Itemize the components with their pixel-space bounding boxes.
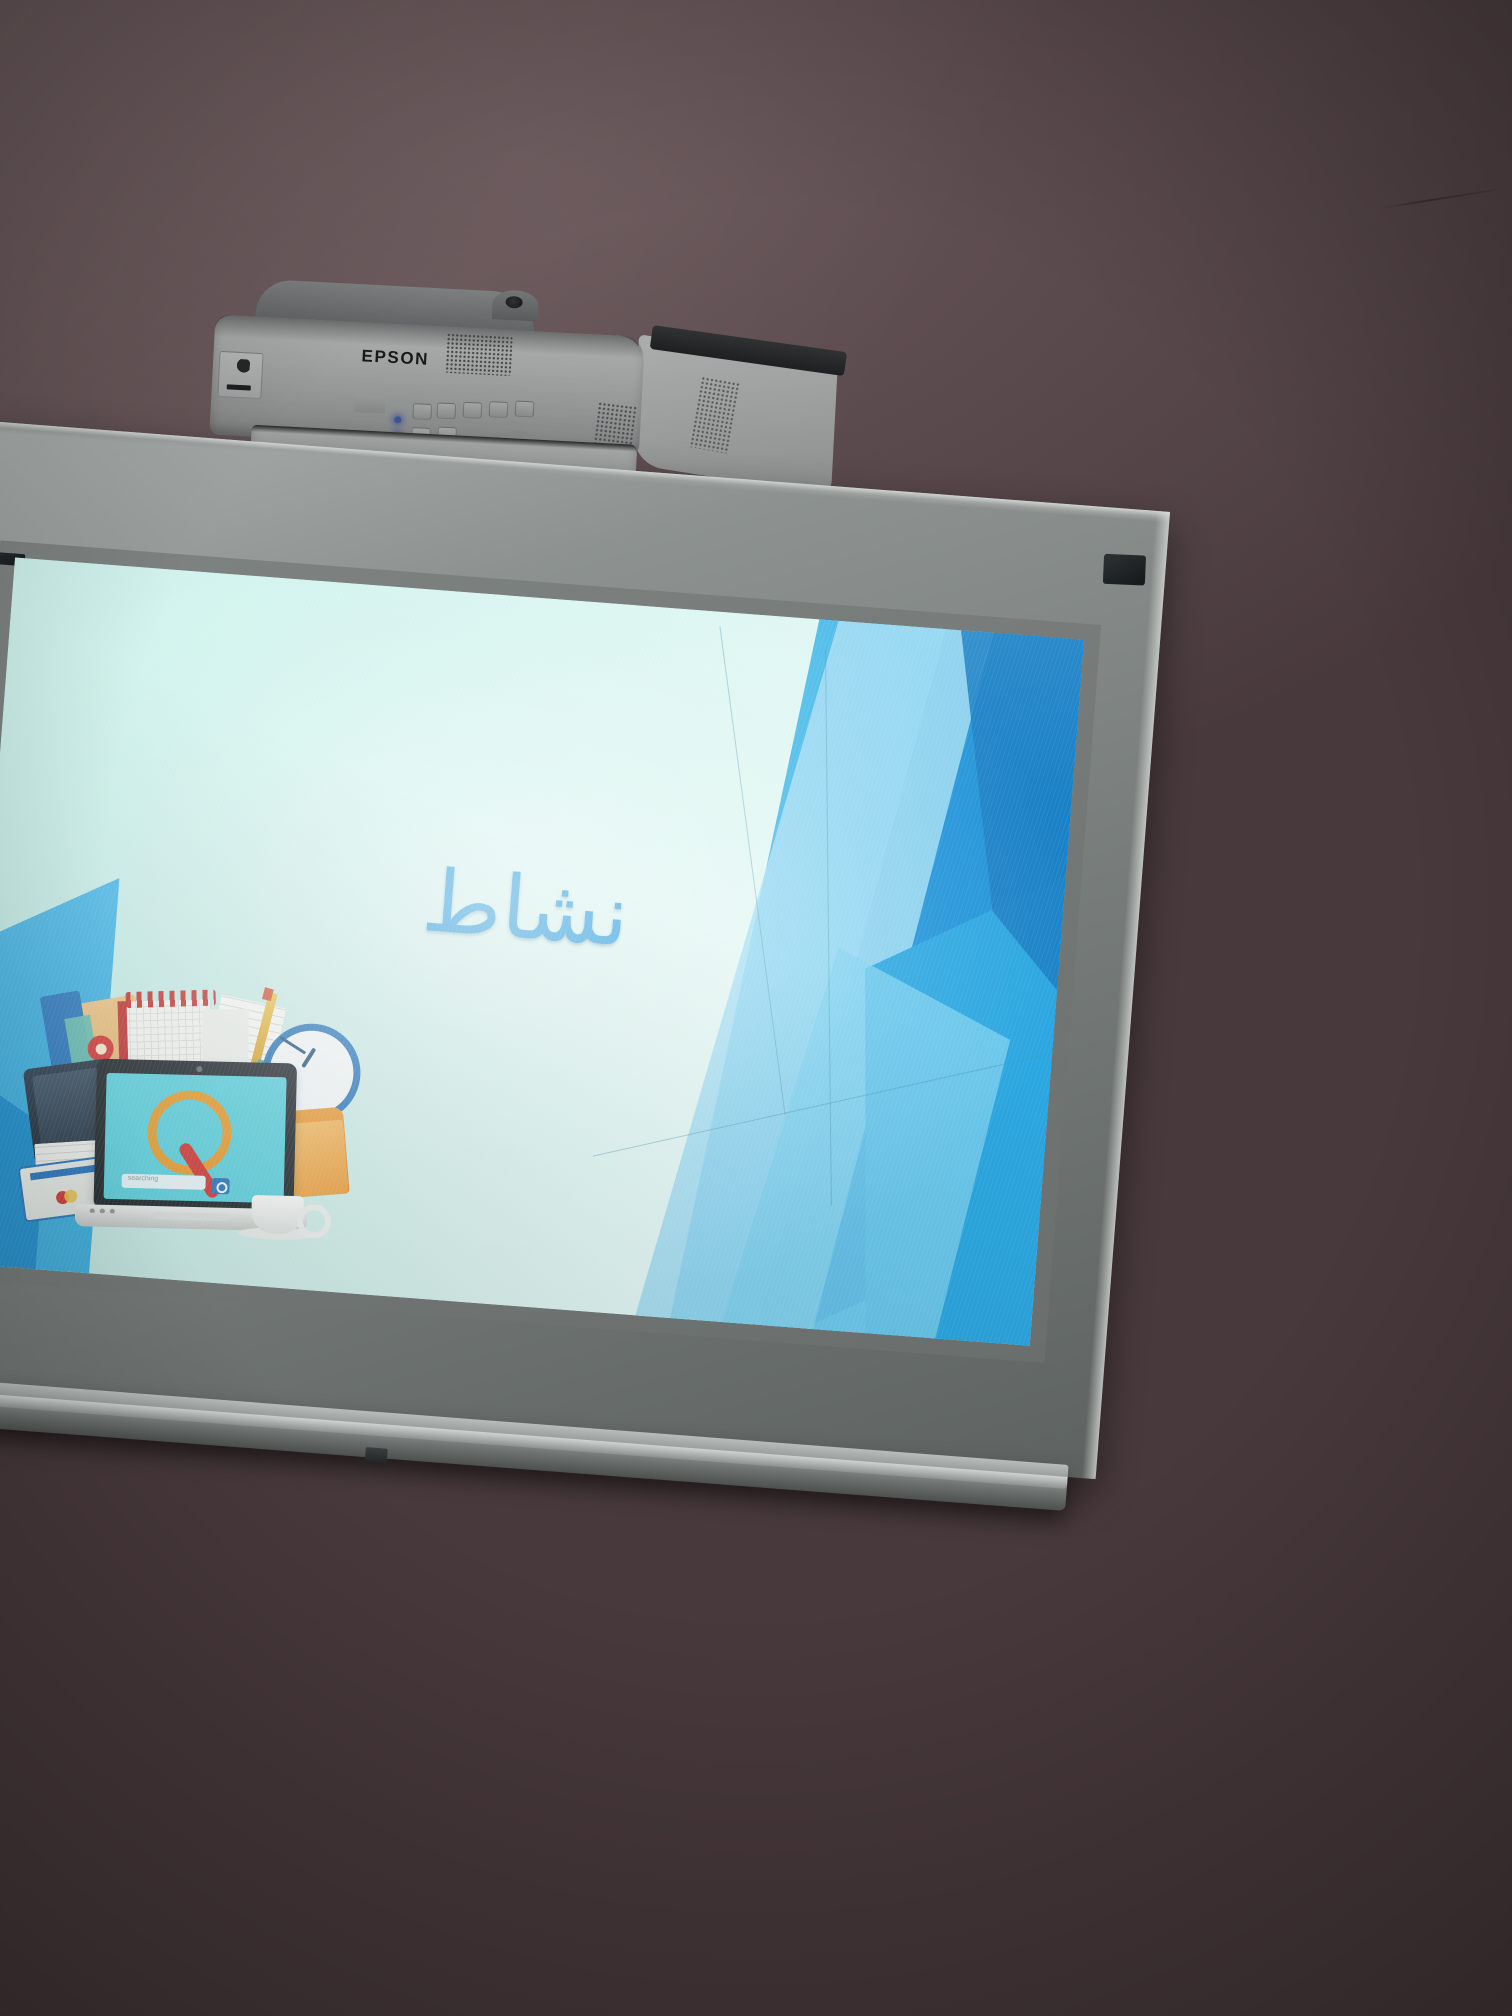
control-button[interactable] bbox=[515, 400, 535, 417]
coffee-cup-handle-icon bbox=[297, 1204, 332, 1239]
sticker-bar bbox=[227, 384, 251, 390]
workspace-search-illustration: searching bbox=[12, 950, 363, 1254]
notebook-spiral-icon bbox=[126, 990, 216, 1009]
power-led-icon bbox=[394, 416, 401, 423]
control-button[interactable] bbox=[462, 402, 482, 419]
laptop-speaker-icon bbox=[87, 1206, 117, 1214]
projector-brand-label: EPSON bbox=[361, 346, 429, 370]
eye-safety-icon bbox=[229, 358, 250, 377]
control-button[interactable] bbox=[436, 402, 456, 419]
search-placeholder-text: searching bbox=[128, 1175, 159, 1183]
projector-vent-grille bbox=[445, 333, 513, 376]
projector-latch bbox=[355, 394, 386, 414]
whiteboard-corner-sensor bbox=[1103, 554, 1146, 586]
search-icon bbox=[211, 1178, 229, 1194]
control-button[interactable] bbox=[489, 401, 509, 418]
classroom-photo-scene: EPSON bbox=[0, 0, 1512, 2016]
projector-warning-sticker bbox=[217, 351, 263, 399]
projected-slide: نشاط bbox=[0, 558, 1084, 1346]
whiteboard-pen-tray-clip bbox=[365, 1447, 388, 1465]
interactive-whiteboard[interactable]: نشاط bbox=[0, 420, 1170, 1479]
control-button[interactable] bbox=[412, 403, 432, 420]
